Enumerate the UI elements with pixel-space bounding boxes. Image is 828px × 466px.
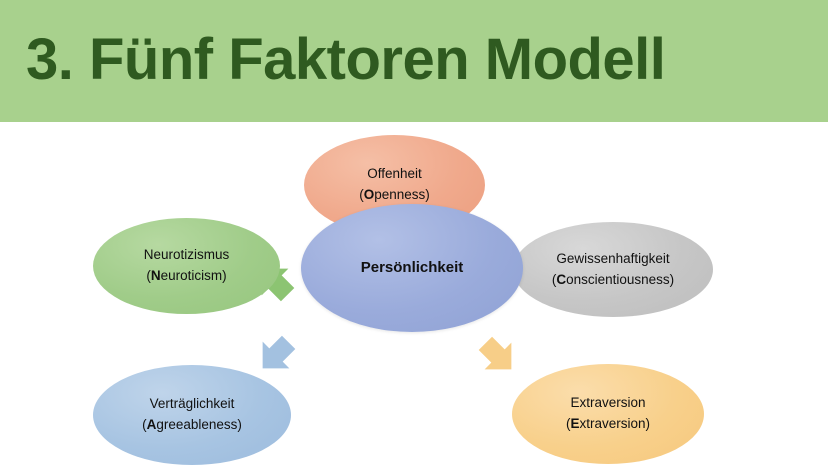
node-agreeableness-initial: A <box>147 417 157 432</box>
node-openness-german: Offenheit <box>367 164 422 185</box>
node-agreeableness-rest: greeableness) <box>156 417 242 432</box>
node-conscientiousness-rest: onscientiousness) <box>566 272 674 287</box>
node-extraversion[interactable]: Extraversion (Extraversion) <box>512 364 704 464</box>
node-extraversion-german: Extraversion <box>570 393 645 414</box>
title-banner: 3. Fünf Faktoren Modell <box>0 0 828 122</box>
node-conscientiousness[interactable]: Gewissenhaftigkeit (Conscientiousness) <box>513 222 713 317</box>
node-conscientiousness-initial: C <box>556 272 566 287</box>
node-agreeableness-english: (Agreeableness) <box>142 415 242 436</box>
node-openness-initial: O <box>364 187 375 202</box>
node-conscientiousness-german: Gewissenhaftigkeit <box>556 249 669 270</box>
node-neuroticism-german: Neurotizismus <box>144 245 230 266</box>
node-openness-english: (Openness) <box>359 185 430 206</box>
node-neuroticism-english: (Neuroticism) <box>146 266 226 287</box>
node-neuroticism-initial: N <box>151 268 161 283</box>
arrow-down-left-icon <box>255 334 297 376</box>
arrow-down-right-shape <box>472 330 525 383</box>
arrow-down-right-icon <box>477 335 519 377</box>
node-neuroticism[interactable]: Neurotizismus (Neuroticism) <box>93 218 280 314</box>
node-agreeableness[interactable]: Verträglichkeit (Agreeableness) <box>93 365 291 465</box>
node-neuroticism-rest: euroticism) <box>161 268 227 283</box>
arrow-down-left-shape <box>249 329 302 382</box>
node-extraversion-rest: xtraversion) <box>579 416 650 431</box>
page-title: 3. Fünf Faktoren Modell <box>26 31 665 89</box>
node-agreeableness-german: Verträglichkeit <box>150 394 235 415</box>
node-conscientiousness-english: (Conscientiousness) <box>552 270 674 291</box>
node-extraversion-english: (Extraversion) <box>566 414 650 435</box>
five-factor-model-diagram: Offenheit (Openness) Gewissenhaftigkeit … <box>0 122 828 466</box>
node-personality-center[interactable]: Persönlichkeit <box>301 204 523 332</box>
node-personality-label: Persönlichkeit <box>361 256 464 279</box>
node-openness-rest: penness) <box>374 187 430 202</box>
